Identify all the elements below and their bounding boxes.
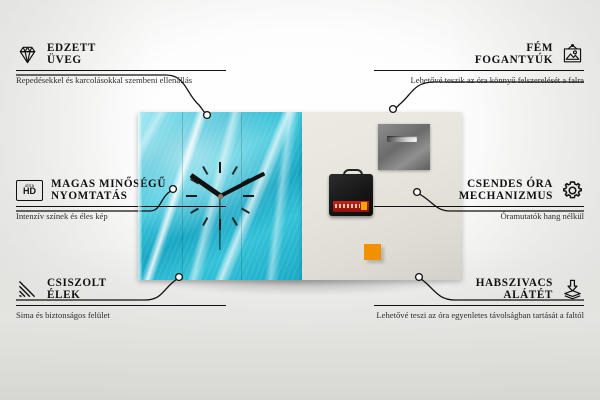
feature-head: CSENDES ÓRAMECHANIZMUS	[374, 178, 584, 202]
feature-description: Repedésekkel és karcolásokkal szembeni e…	[16, 75, 226, 86]
battery-stripes	[335, 204, 360, 208]
ultra-hd-icon-main: HD	[23, 187, 36, 196]
mechanism-loop	[343, 169, 363, 179]
feature-head: EDZETTÜVEG	[16, 42, 226, 66]
metal-hanger-bracket	[378, 124, 430, 170]
feature-title: FÉMFOGANTYÚK	[475, 42, 553, 66]
foam-pad	[364, 244, 381, 260]
diamond-icon	[16, 43, 39, 66]
divider	[16, 305, 226, 306]
gear-icon	[561, 179, 584, 202]
bracket-slot	[387, 136, 417, 142]
diagonal-lines-icon	[16, 278, 39, 301]
feature-head: FÉMFOGANTYÚK	[374, 42, 584, 66]
press-down-pad-icon	[561, 278, 584, 301]
feature-title: CSENDES ÓRAMECHANIZMUS	[459, 178, 553, 202]
feature-description: Lehetővé teszi az óra egyenletes távolsá…	[374, 310, 584, 321]
feature-description: Sima és biztonságos felület	[16, 310, 226, 321]
feature-description: Óramutatók hang nélkül	[374, 211, 584, 222]
feature-polished-edges: CSISZOLTÉLEK Sima és biztonságos felület	[16, 277, 226, 321]
feature-silent-mechanism: CSENDES ÓRAMECHANIZMUS Óramutatók hang n…	[374, 178, 584, 222]
divider	[374, 70, 584, 71]
battery	[333, 201, 369, 212]
picture-frame-hook-icon	[561, 43, 584, 66]
feature-tempered-glass: EDZETTÜVEG Repedésekkel és karcolásokkal…	[16, 42, 226, 86]
divider	[374, 305, 584, 306]
feature-metal-handles: FÉMFOGANTYÚK Lehetővé teszik az óra könn…	[374, 42, 584, 86]
feature-description: Lehetővé teszik az óra könnyű felszerelé…	[374, 75, 584, 86]
feature-title: CSISZOLTÉLEK	[47, 277, 107, 301]
feature-head: HABSZIVACSALÁTÉT	[374, 277, 584, 301]
ultra-hd-icon: ultra HD	[16, 180, 43, 201]
battery-plus-terminal	[361, 202, 367, 210]
divider	[16, 70, 226, 71]
divider	[374, 206, 584, 207]
hand-cap	[218, 194, 223, 199]
feature-title: HABSZIVACSALÁTÉT	[476, 277, 553, 301]
feature-title: EDZETTÜVEG	[47, 42, 96, 66]
clock-front-face	[138, 112, 302, 280]
infographic-canvas: EDZETTÜVEG Repedésekkel és karcolásokkal…	[0, 0, 600, 400]
feature-foam-pad: HABSZIVACSALÁTÉT Lehetővé teszi az óra e…	[374, 277, 584, 321]
feature-head: CSISZOLTÉLEK	[16, 277, 226, 301]
clock-dial	[138, 112, 302, 280]
clock-mechanism	[329, 174, 373, 216]
